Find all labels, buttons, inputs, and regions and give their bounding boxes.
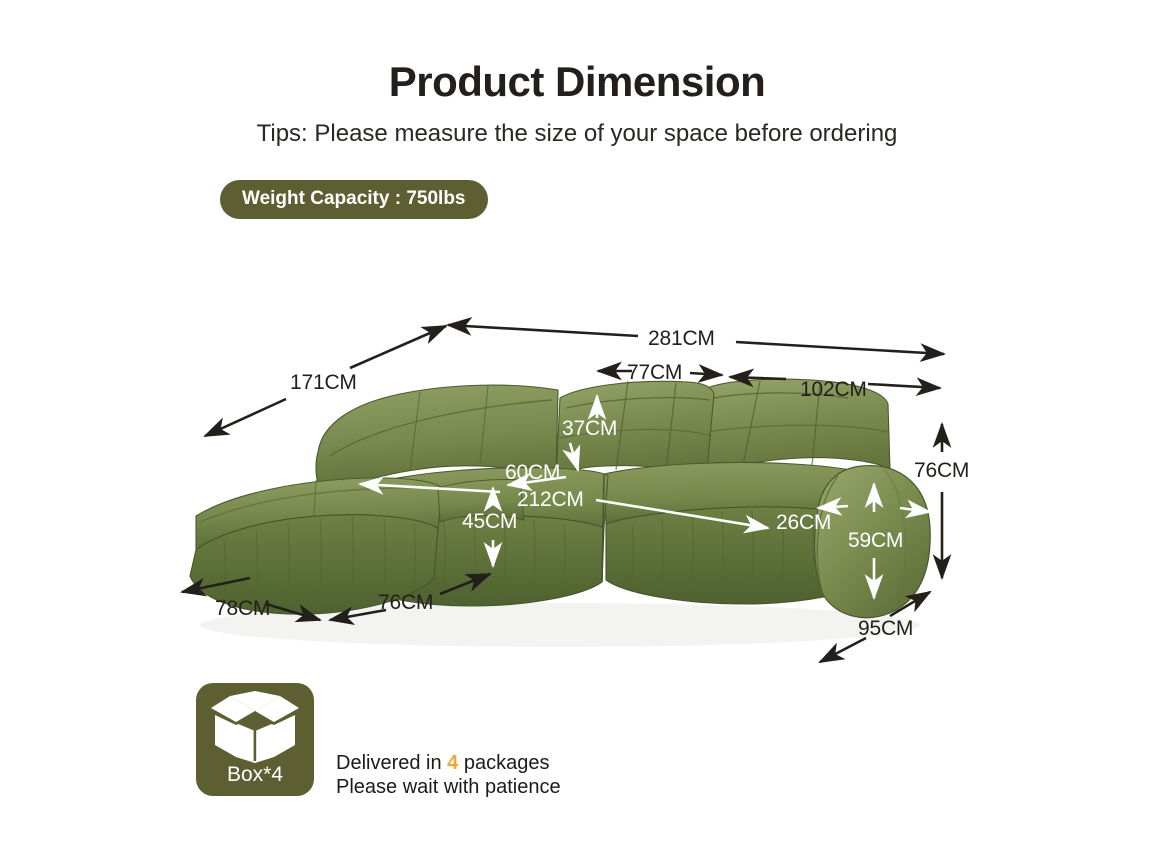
- dimension-label-171cm: 171CM: [290, 372, 357, 393]
- arrow-102cm-right: [868, 384, 940, 388]
- dimension-label-76cm-height: 76CM: [914, 460, 969, 481]
- dimension-label-102cm: 102CM: [800, 379, 867, 400]
- dimension-label-76cm-chaise: 76CM: [378, 592, 433, 613]
- arrow-171cm-lower: [205, 399, 286, 436]
- dimension-label-77cm: 77CM: [627, 362, 682, 383]
- dimension-label-78cm: 78CM: [215, 598, 270, 619]
- package-text: Delivered in 4 packages Please wait with…: [336, 751, 736, 800]
- package-line-2: Please wait with patience: [336, 775, 736, 799]
- dimension-label-59cm: 59CM: [848, 530, 903, 551]
- package-count: 4: [447, 752, 458, 774]
- dimension-label-26cm: 26CM: [776, 512, 831, 533]
- package-line-1: Delivered in 4 packages: [336, 751, 736, 775]
- dimension-label-281cm: 281CM: [648, 328, 715, 349]
- arrow-95cm-lower: [820, 638, 866, 662]
- package-line1-prefix: Delivered in: [336, 752, 447, 774]
- dimension-label-60cm: 60CM: [505, 462, 560, 483]
- dimension-label-212cm: 212CM: [517, 489, 584, 510]
- product-dimension-infographic: Product Dimension Tips: Please measure t…: [0, 0, 1154, 865]
- package-info: Box*4 Delivered in 4 packages Please wai…: [196, 683, 756, 803]
- box-badge-label: Box*4: [196, 763, 314, 786]
- arrow-171cm-upper: [350, 326, 446, 368]
- dimension-label-95cm: 95CM: [858, 618, 913, 639]
- dimension-label-45cm: 45CM: [462, 511, 517, 532]
- arrow-77cm-right: [690, 373, 722, 375]
- arrow-281cm-right: [736, 342, 944, 354]
- open-box-icon: [208, 691, 302, 763]
- package-line1-suffix: packages: [458, 752, 549, 774]
- arrow-281cm-left: [448, 325, 638, 336]
- dimension-label-37cm: 37CM: [562, 418, 617, 439]
- arrow-102cm-left: [730, 377, 786, 379]
- box-count-badge: Box*4: [196, 683, 314, 796]
